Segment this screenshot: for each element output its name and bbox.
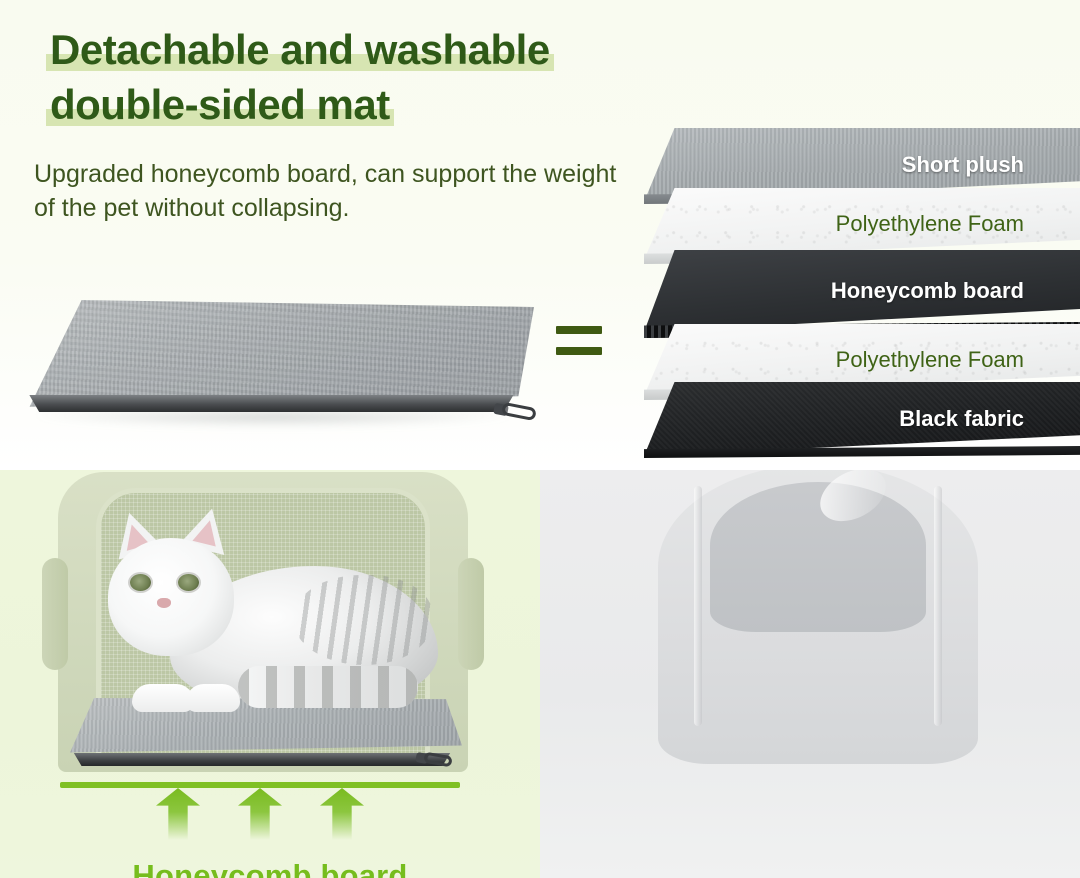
layer-label: Polyethylene Foam <box>836 347 1080 373</box>
pod-rim-right <box>934 486 942 726</box>
up-arrow-icon-2 <box>238 788 282 840</box>
straight-support-line <box>60 782 460 788</box>
layer-label: Black fabric <box>899 406 1080 432</box>
cat-paw-front-left <box>132 684 194 712</box>
layer-label: Short plush <box>902 152 1080 178</box>
comparison-panel-left: Honeycomb board <box>0 470 540 878</box>
equals-bar-bottom <box>556 347 602 355</box>
plastic-pod-carrier-illustration <box>658 470 978 764</box>
pod-rim-left <box>694 486 702 726</box>
pod-window <box>710 482 926 632</box>
mat-edge <box>70 753 454 766</box>
cat-tail <box>238 666 418 708</box>
cat-eye-right <box>178 574 199 591</box>
cat-head <box>108 538 234 656</box>
infographic-page: Detachable and washable double-sided mat… <box>0 0 1080 878</box>
headline-line1-wrap: Detachable and washable <box>46 24 636 75</box>
headline-line2: double-sided mat <box>46 79 394 130</box>
equals-icon <box>556 326 602 355</box>
up-arrow-icon-1 <box>156 788 200 840</box>
up-arrow-icon-3 <box>320 788 364 840</box>
comparison-section: Honeycomb board PP board <box>0 470 1080 878</box>
layer-label: Honeycomb board <box>831 278 1080 304</box>
layer-honeycomb-board: Honeycomb board <box>644 250 1080 332</box>
layer-stack-diagram: Short plush Polyethylene Foam Honeycomb … <box>644 128 1080 428</box>
mat-product-photo <box>14 300 534 450</box>
layer-label: Polyethylene Foam <box>836 211 1080 237</box>
honeycomb-mat-flat <box>62 698 462 772</box>
caption-honeycomb-board: Honeycomb board <box>0 858 540 878</box>
zipper-pull <box>423 752 452 768</box>
carrier-handle-right <box>458 558 484 670</box>
cat-eye-left <box>130 574 151 591</box>
zipper-icon <box>416 752 456 772</box>
cat-nose <box>157 598 171 608</box>
headline-line2-wrap: double-sided mat <box>46 79 636 130</box>
zipper-pull <box>501 402 537 421</box>
cat-on-honeycomb-mat <box>108 508 438 728</box>
equals-bar-top <box>556 326 602 334</box>
headline-block: Detachable and washable double-sided mat <box>46 24 636 130</box>
cat-paw-front-right <box>186 684 240 712</box>
layer-black-fabric: Black fabric <box>644 382 1080 456</box>
zipper-icon <box>494 403 540 425</box>
mat-side-edge <box>24 395 518 412</box>
mat-drop-shadow <box>35 412 513 428</box>
top-section: Detachable and washable double-sided mat… <box>0 0 1080 470</box>
headline-line1: Detachable and washable <box>46 24 554 75</box>
carrier-handle-left <box>42 558 68 670</box>
subheadline-text: Upgraded honeycomb board, can support th… <box>34 157 634 225</box>
comparison-panel-right: PP board <box>540 470 1080 878</box>
